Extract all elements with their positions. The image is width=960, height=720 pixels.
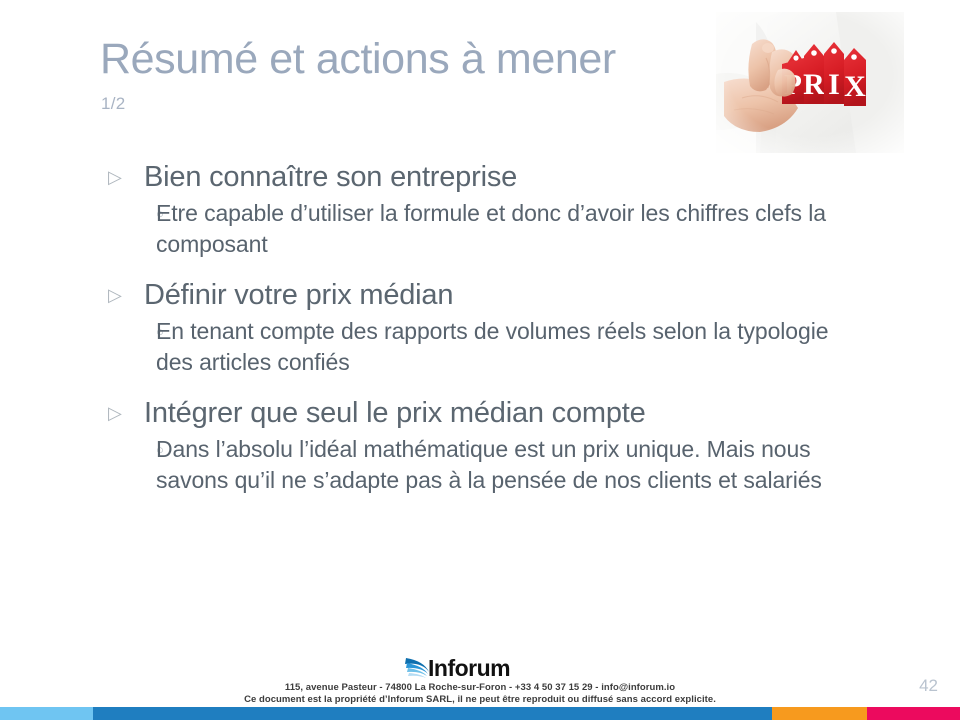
bullet-level1: ▷ Définir votre prix médian bbox=[104, 278, 904, 312]
page-subtitle: 1/2 bbox=[101, 94, 126, 114]
logo-swoosh-icon bbox=[405, 658, 429, 678]
bullet-level2: ○ Etre capable d’utiliser la formule et … bbox=[104, 198, 904, 260]
bullet-group: ▷ Bien connaître son entreprise ○ Etre c… bbox=[104, 160, 904, 260]
inforum-logo: Inforum bbox=[404, 652, 556, 682]
bullet-level2: ○ Dans l’absolu l’idéal mathématique est… bbox=[104, 434, 904, 496]
bar-segment-pink bbox=[867, 707, 960, 720]
bar-segment-blue bbox=[93, 707, 772, 720]
bar-segment-light-blue bbox=[0, 707, 93, 720]
bullet-subtext: Dans l’absolu l’idéal mathématique est u… bbox=[156, 434, 856, 496]
bullet-level1: ▷ Intégrer que seul le prix médian compt… bbox=[104, 396, 904, 430]
circle-bullet-icon: ○ bbox=[104, 316, 156, 347]
bullet-heading: Définir votre prix médian bbox=[144, 278, 453, 312]
footer-text-block: 115, avenue Pasteur - 74800 La Roche-sur… bbox=[0, 682, 960, 706]
logo-wordmark: Inforum bbox=[428, 655, 510, 681]
price-tags-photo: P R I X bbox=[716, 12, 904, 153]
inforum-logo-mark: Inforum bbox=[404, 652, 556, 682]
bullet-heading: Intégrer que seul le prix médian compte bbox=[144, 396, 646, 430]
bullet-subtext: Etre capable d’utiliser la formule et do… bbox=[156, 198, 856, 260]
triangle-bullet-icon: ▷ bbox=[104, 160, 144, 194]
bar-segment-orange bbox=[772, 707, 867, 720]
bullet-level1: ▷ Bien connaître son entreprise bbox=[104, 160, 904, 194]
bullet-level2: ○ En tenant compte des rapports de volum… bbox=[104, 316, 904, 378]
bullet-group: ▷ Définir votre prix médian ○ En tenant … bbox=[104, 278, 904, 378]
triangle-bullet-icon: ▷ bbox=[104, 396, 144, 430]
circle-bullet-icon: ○ bbox=[104, 434, 156, 465]
bullet-group: ▷ Intégrer que seul le prix médian compt… bbox=[104, 396, 904, 496]
bottom-color-bar bbox=[0, 707, 960, 720]
bullet-heading: Bien connaître son entreprise bbox=[144, 160, 517, 194]
footer-address-line: 115, avenue Pasteur - 74800 La Roche-sur… bbox=[0, 682, 960, 694]
page-number: 42 bbox=[919, 676, 938, 696]
circle-bullet-icon: ○ bbox=[104, 198, 156, 229]
bullet-subtext: En tenant compte des rapports de volumes… bbox=[156, 316, 856, 378]
slide-content: ▷ Bien connaître son entreprise ○ Etre c… bbox=[104, 160, 904, 496]
price-tags-illustration: P R I X bbox=[716, 12, 904, 153]
page-title: Résumé et actions à mener bbox=[100, 38, 616, 81]
triangle-bullet-icon: ▷ bbox=[104, 278, 144, 312]
footer-legal-line: Ce document est la propriété d’Inforum S… bbox=[0, 694, 960, 706]
